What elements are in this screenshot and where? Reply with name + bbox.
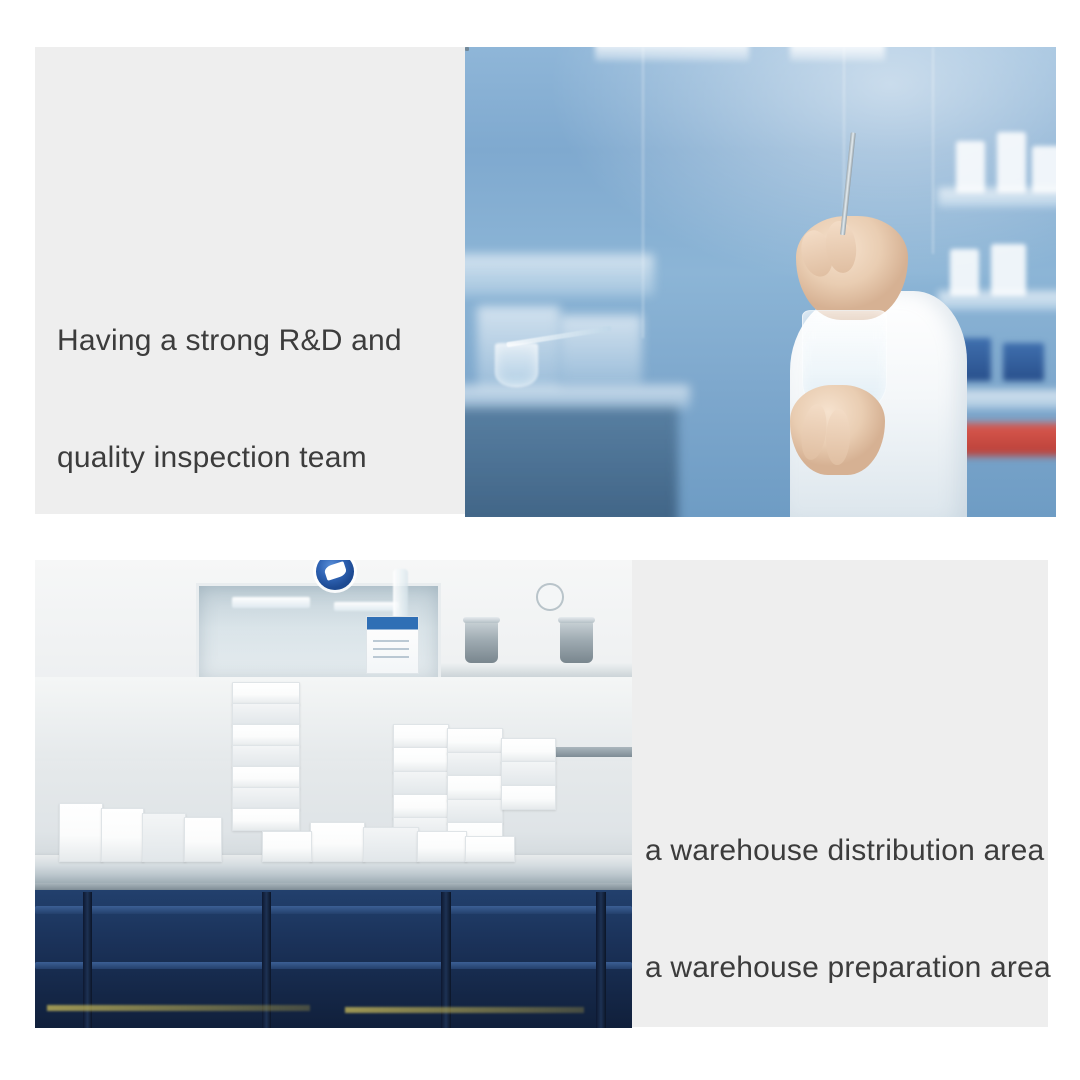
wall-clock	[536, 583, 564, 610]
carton-stack-box	[501, 761, 557, 786]
carton-stack-box	[232, 787, 300, 810]
floor-marking	[47, 1005, 310, 1012]
laboratory-photo	[465, 47, 1056, 517]
window-light-fixture	[334, 602, 400, 611]
carton-foreground	[363, 827, 419, 862]
top-caption-text: Having a strong R&D and quality inspecti…	[57, 243, 457, 555]
safety-glasses	[465, 47, 469, 51]
blue-storage-box	[1003, 343, 1044, 381]
carton-stack-box	[232, 682, 300, 705]
notice-line	[373, 648, 409, 650]
stainless-pot	[465, 621, 498, 663]
wall-seam	[932, 47, 934, 254]
trolley-rail	[35, 906, 632, 913]
warehouse-photo	[35, 560, 632, 1028]
carton-stack-box	[447, 775, 503, 800]
background-bench	[560, 315, 643, 386]
carton-foreground	[184, 817, 222, 861]
window-light-fixture	[232, 597, 310, 607]
upper-shelf	[441, 663, 632, 677]
carton-stack-box	[393, 771, 449, 796]
carton-foreground	[59, 803, 103, 861]
reagent-bottle	[991, 244, 1026, 296]
background-bench	[465, 254, 654, 296]
notice-line	[373, 656, 409, 658]
carton-foreground	[262, 831, 312, 861]
stainless-pot	[560, 621, 593, 663]
carton-stack-box	[232, 766, 300, 789]
carton-stack-box	[232, 745, 300, 768]
top-caption-line-1: Having a strong R&D and	[57, 321, 457, 360]
notice-line	[373, 640, 409, 642]
carton-foreground	[101, 808, 145, 861]
notice-board	[366, 616, 419, 674]
trolley-leg	[596, 892, 606, 1028]
carton-stack-box	[393, 724, 449, 749]
carton-foreground	[310, 822, 366, 861]
carton-foreground	[417, 831, 467, 861]
carton-foreground	[142, 813, 186, 862]
carton-stack-box	[447, 799, 503, 824]
trolley-rail	[35, 962, 632, 969]
carton-stack-box	[393, 794, 449, 819]
carton-stack-box	[232, 703, 300, 726]
bottom-caption-line-1: a warehouse distribution area	[645, 831, 1045, 870]
ceiling-light-secondary	[790, 47, 885, 61]
reagent-bottle	[950, 249, 980, 296]
carton-stack-box	[232, 808, 300, 831]
bottom-caption-text: a warehouse distribution area a warehous…	[645, 753, 1045, 1065]
page-root: Having a strong R&D and quality inspecti…	[0, 0, 1080, 1080]
floor-marking	[345, 1007, 584, 1013]
carton-stack-box	[447, 728, 503, 753]
carton-foreground	[465, 836, 515, 861]
top-caption-line-2: quality inspection team	[57, 438, 457, 477]
carton-stack-box	[393, 747, 449, 772]
ceiling-light	[595, 47, 749, 61]
bottom-caption-line-2: a warehouse preparation area	[645, 948, 1045, 987]
carton-stack-box	[232, 724, 300, 747]
glass-beaker	[495, 343, 538, 387]
reagent-bottle	[1032, 146, 1056, 193]
reagent-bottle	[956, 141, 986, 193]
carton-stack-box	[501, 785, 557, 810]
reagent-bottle	[997, 132, 1027, 193]
carton-stack-box	[447, 752, 503, 777]
carton-stack-box	[501, 738, 557, 763]
background-counter	[465, 404, 678, 517]
background-bench	[465, 385, 690, 409]
